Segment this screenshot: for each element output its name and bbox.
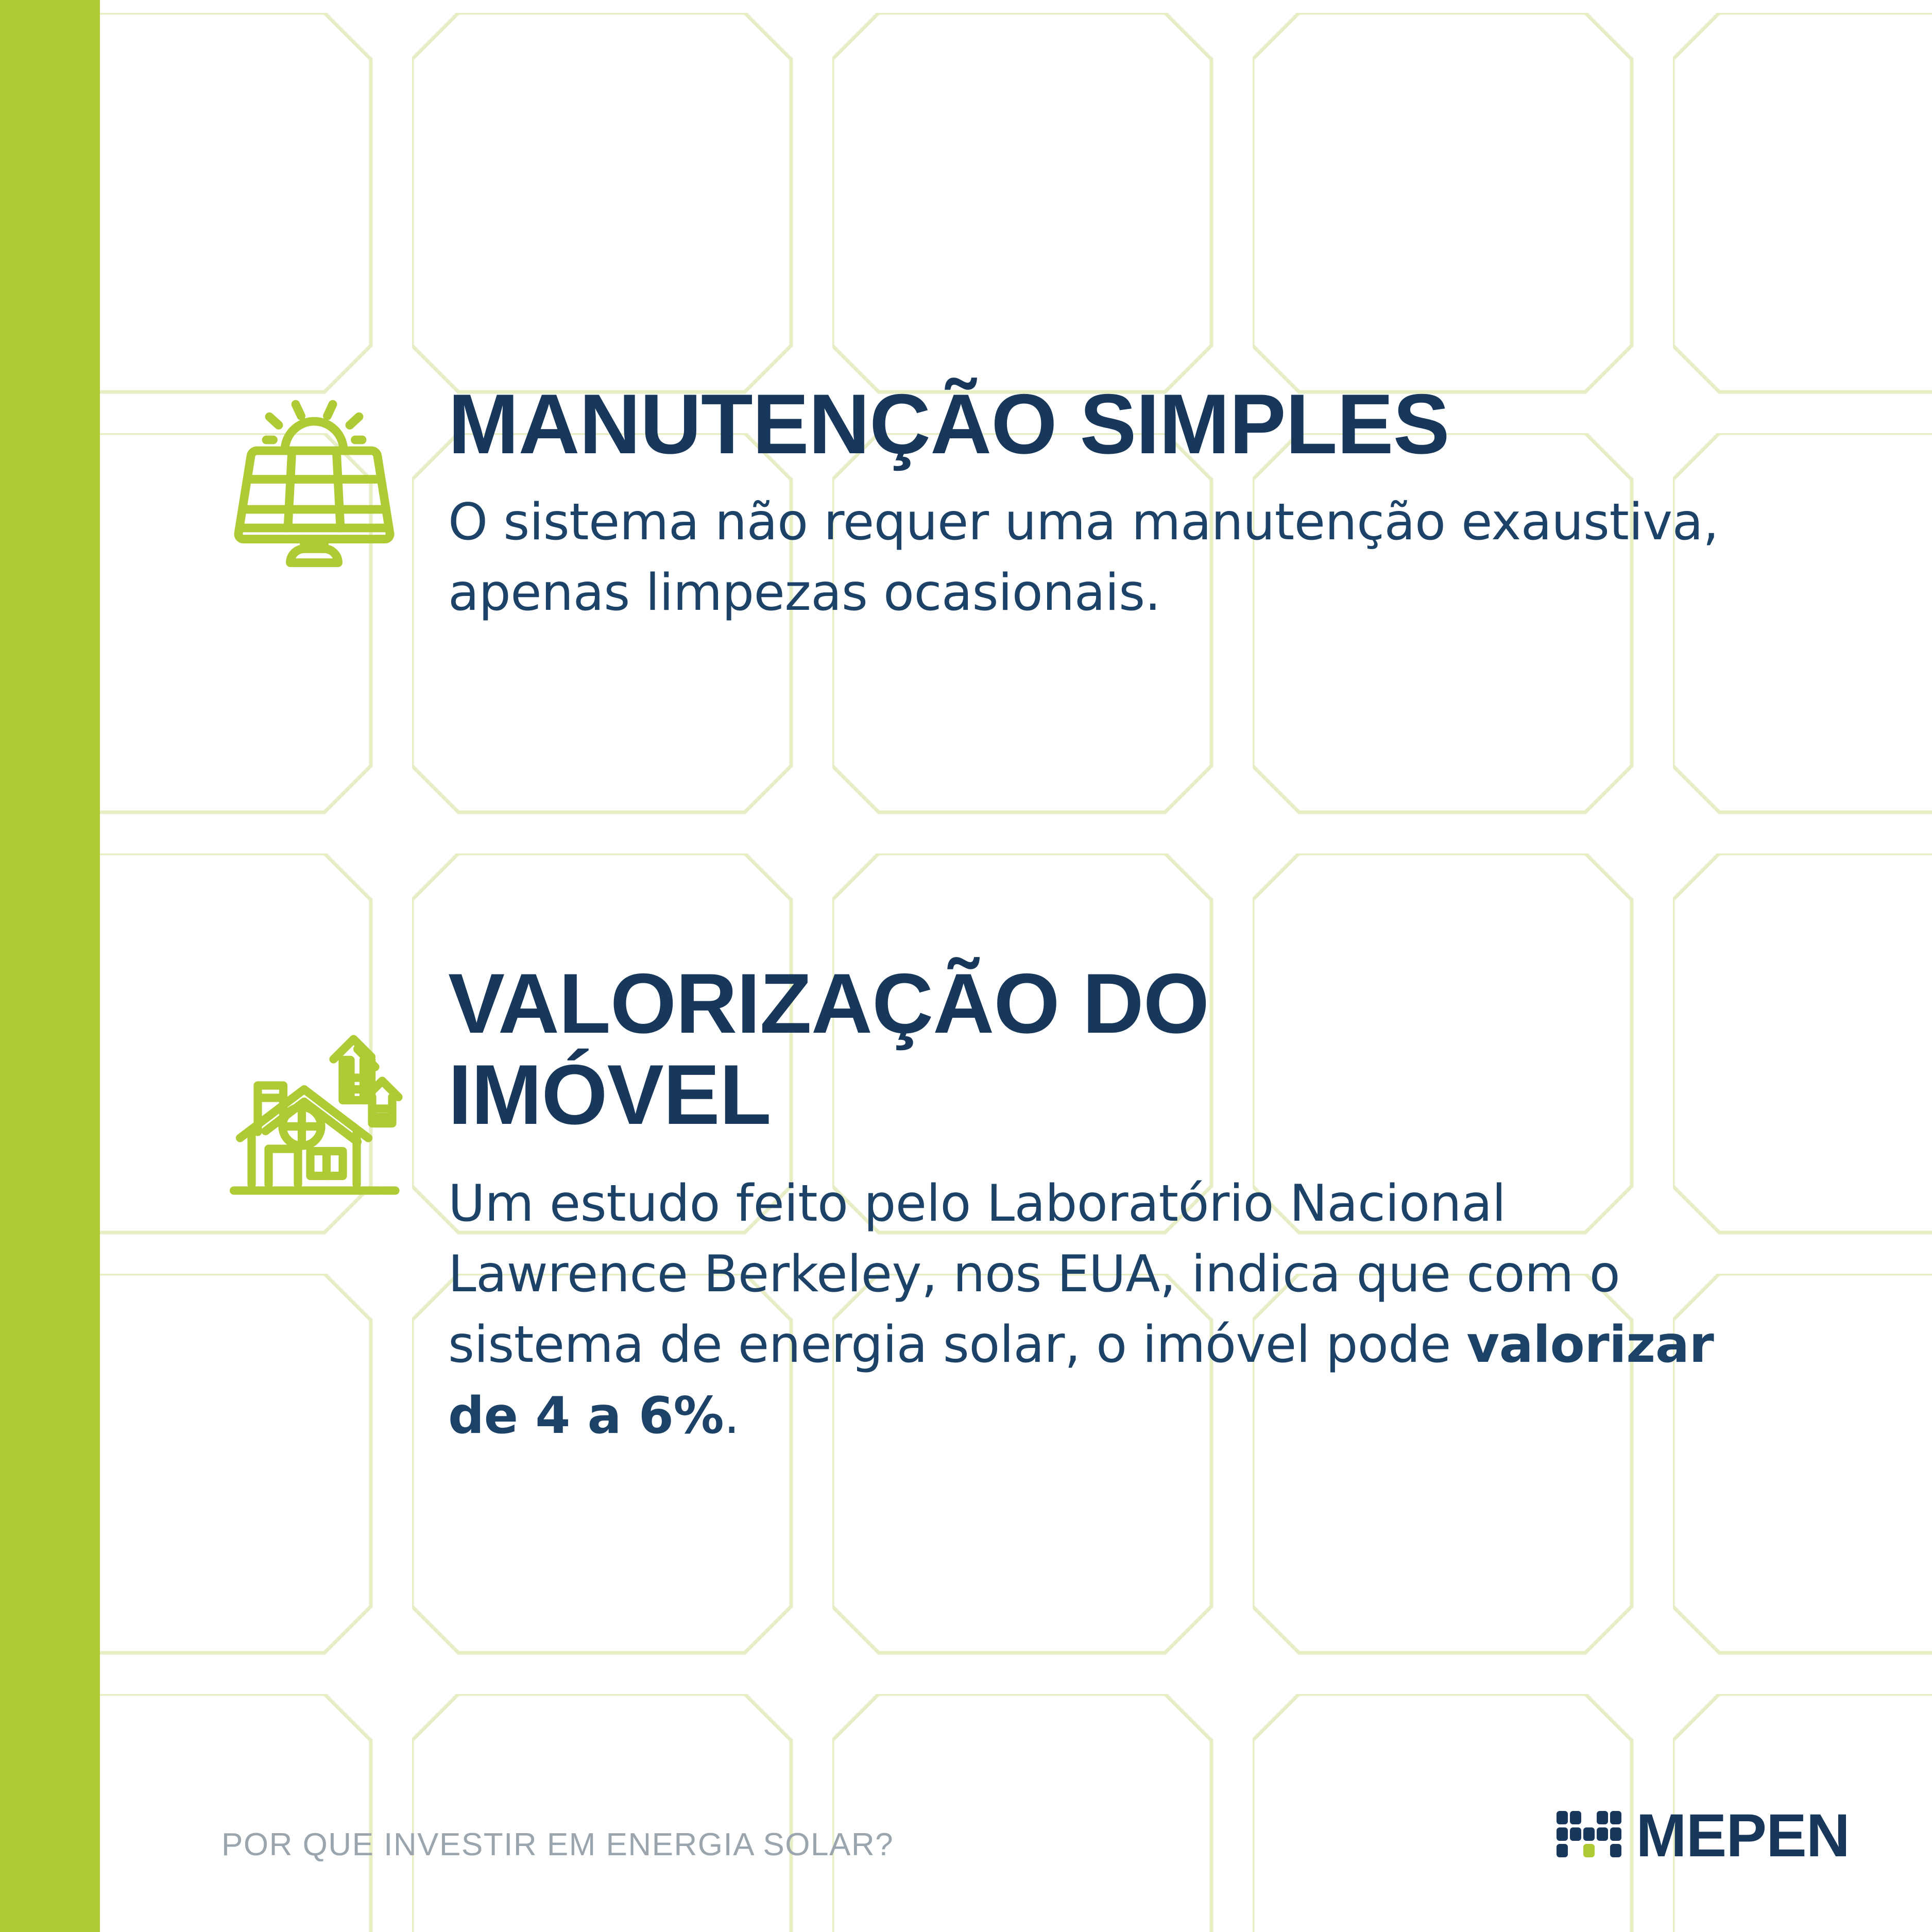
feature-heading-valorizacao: VALORIZAÇÃO DO IMÓVEL xyxy=(448,958,1499,1140)
feature-text-manutencao: MANUTENÇÃO SIMPLES O sistema não requer … xyxy=(448,379,1746,628)
feature-body-manutencao: O sistema não requer uma manutenção exau… xyxy=(448,487,1746,628)
footer: POR QUE INVESTIR EM ENERGIA SOLAR? MEPE xyxy=(221,1799,1850,1866)
footer-caption: POR QUE INVESTIR EM ENERGIA SOLAR? xyxy=(221,1826,894,1863)
brand-wordmark: MEPEN xyxy=(1636,1805,1850,1866)
feature-block-manutencao: MANUTENÇÃO SIMPLES O sistema não requer … xyxy=(221,379,1746,628)
left-accent-bar xyxy=(0,0,100,1932)
content-area: MANUTENÇÃO SIMPLES O sistema não requer … xyxy=(0,0,1932,1932)
house-value-up-icon xyxy=(221,1020,407,1208)
poster-canvas: MANUTENÇÃO SIMPLES O sistema não requer … xyxy=(0,0,1932,1932)
feature-heading-manutencao: MANUTENÇÃO SIMPLES xyxy=(448,379,1746,470)
brand-logo: MEPEN xyxy=(1557,1805,1850,1866)
mepen-grid-logo-icon xyxy=(1557,1811,1622,1860)
solar-panel-icon xyxy=(221,383,407,571)
feature-body-valorizacao: Um estudo feito pelo Laboratório Naciona… xyxy=(448,1169,1746,1451)
feature-text-valorizacao: VALORIZAÇÃO DO IMÓVEL Um estudo feito pe… xyxy=(448,958,1746,1451)
feature-block-valorizacao: VALORIZAÇÃO DO IMÓVEL Um estudo feito pe… xyxy=(221,958,1746,1451)
